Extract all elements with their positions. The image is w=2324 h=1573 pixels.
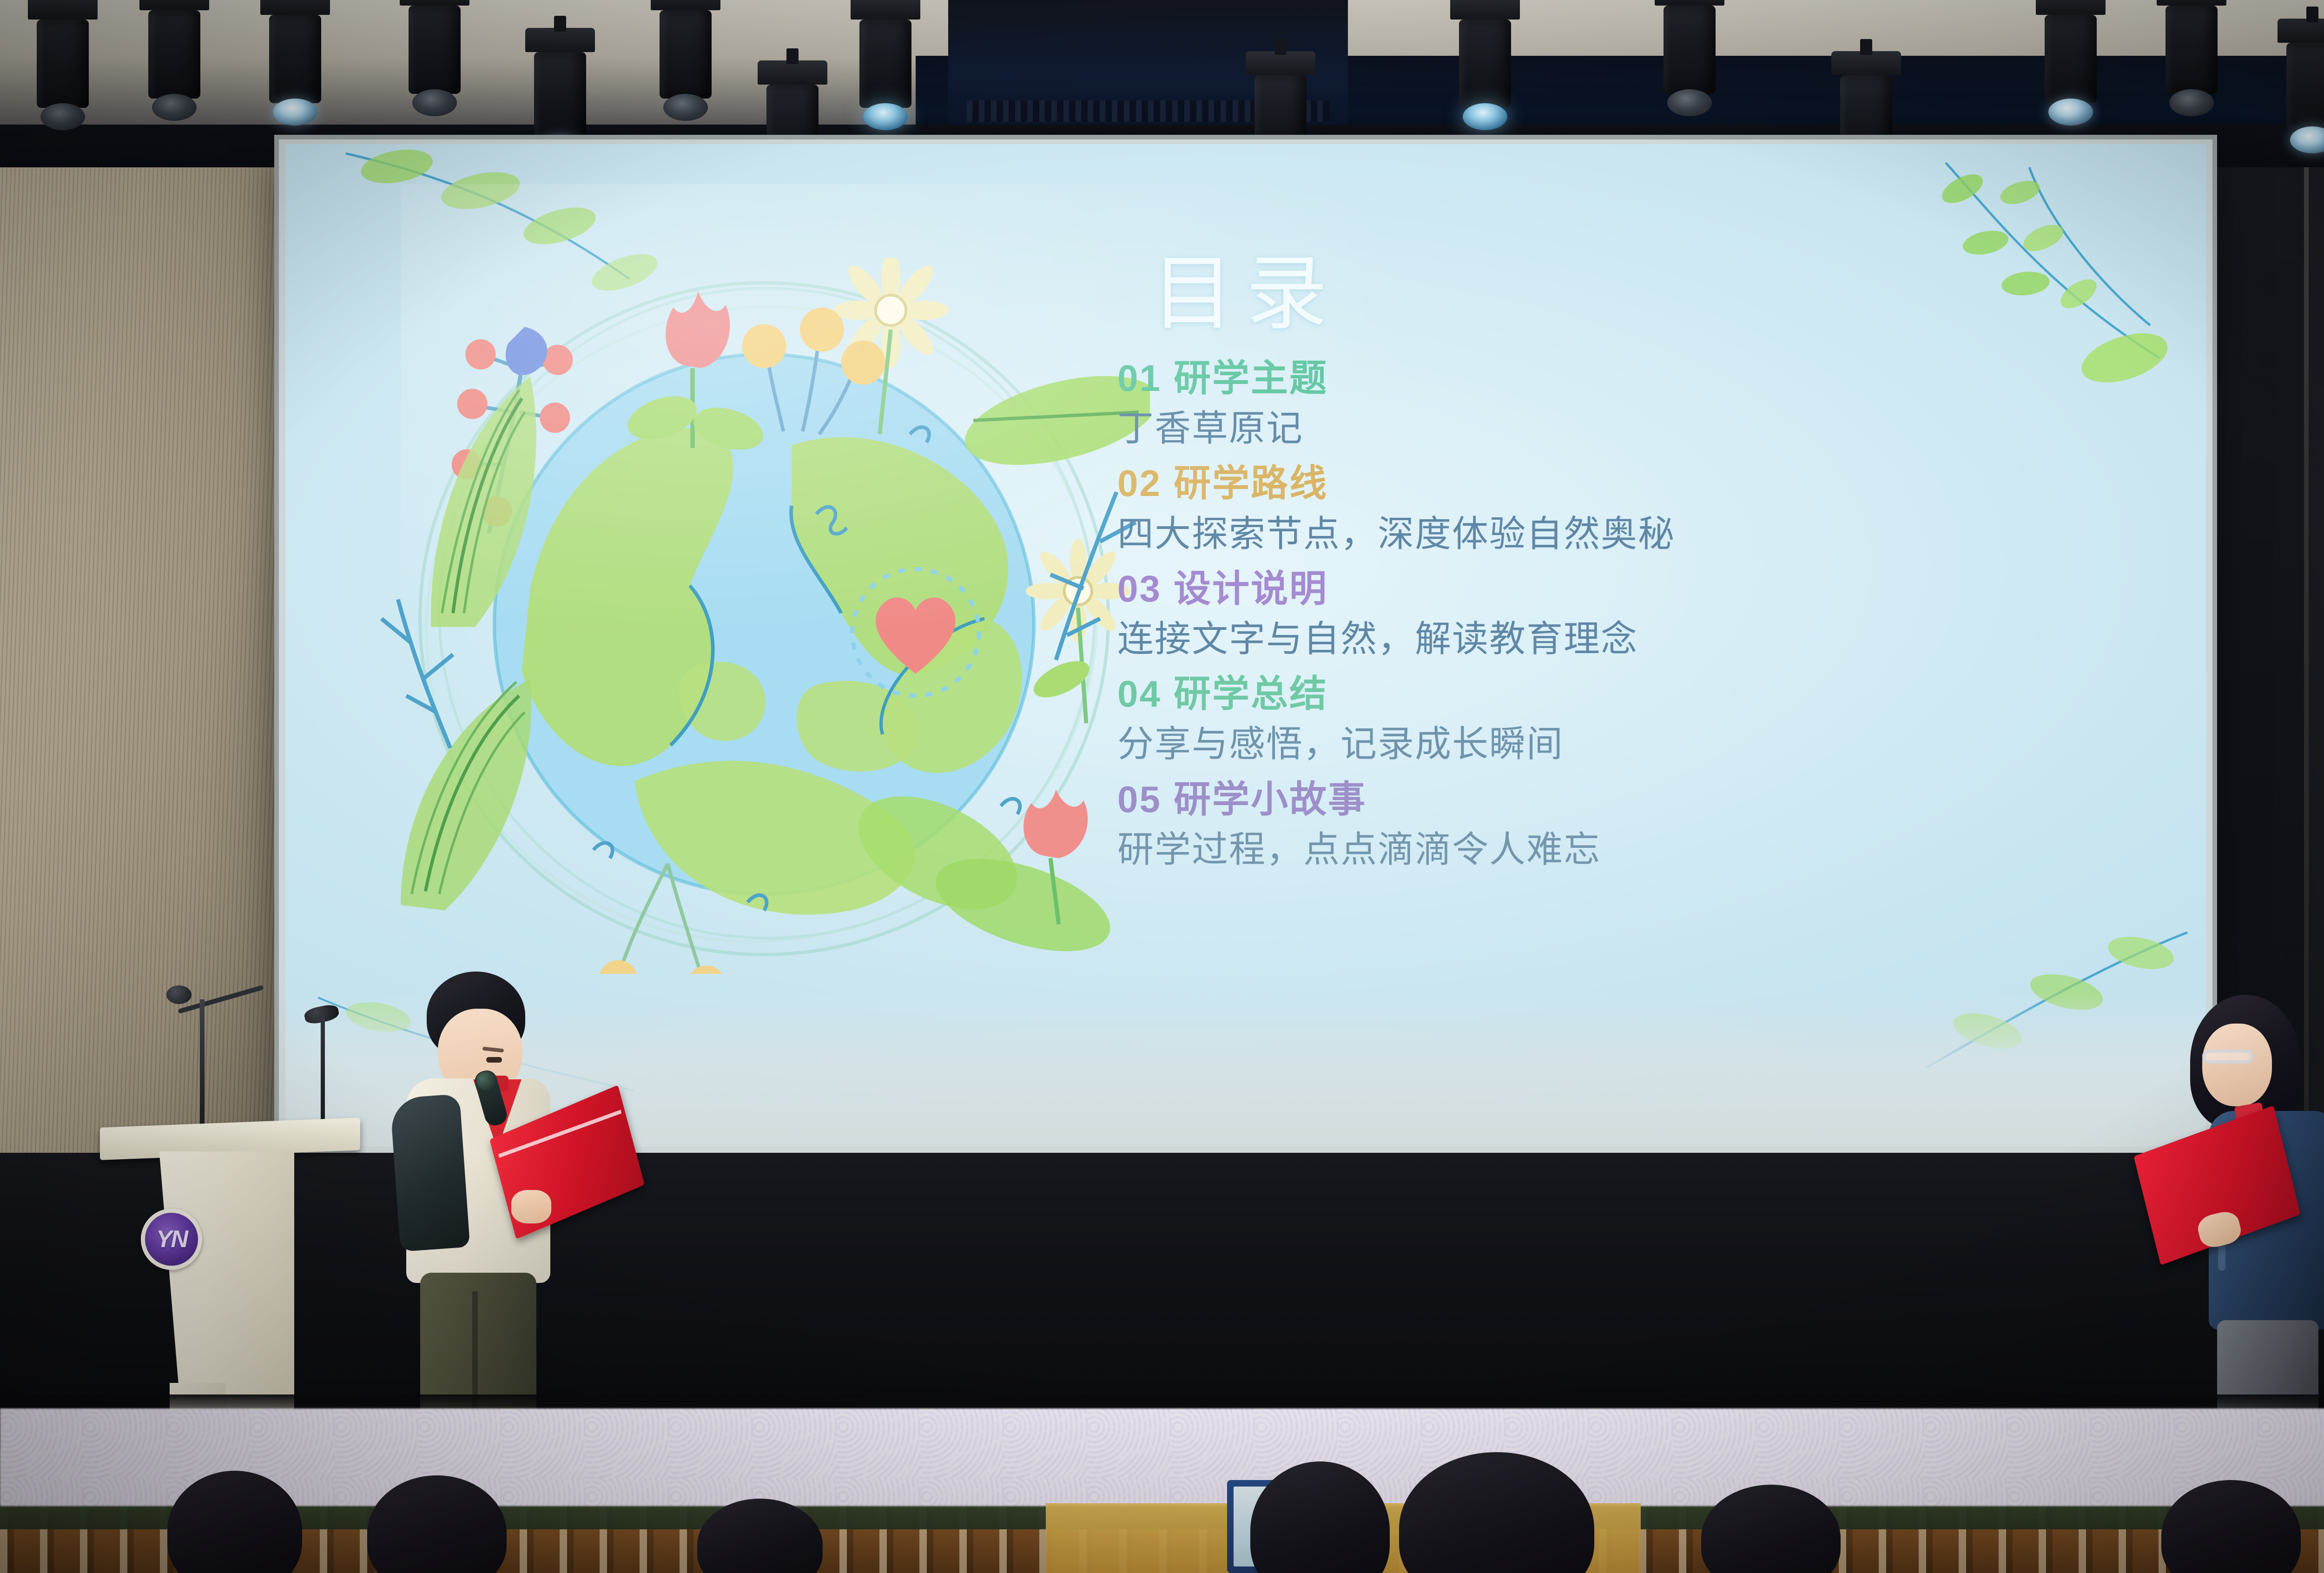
- stage-light: [1655, 0, 1724, 116]
- toc-heading-text: 研学路线: [1174, 463, 1328, 504]
- audience-head: [2161, 1480, 2301, 1573]
- stage-light: [2278, 19, 2324, 153]
- toc-heading: 05研学小故事: [1117, 774, 2093, 824]
- toc-subtitle: 丁香草原记: [1117, 403, 2093, 454]
- slide-title: 目录: [285, 227, 2206, 345]
- toc-number: 04: [1117, 673, 1162, 714]
- toc-heading-text: 设计说明: [1174, 568, 1328, 609]
- stage-light: [851, 0, 920, 130]
- toc-subtitle: 分享与感悟，记录成长瞬间: [1117, 719, 2093, 769]
- school-emblem-text: YN: [156, 1225, 187, 1253]
- stage-light: [2157, 0, 2226, 116]
- toc-subtitle: 研学过程，点点滴滴令人难忘: [1117, 824, 2093, 875]
- toc-heading-text: 研学小故事: [1174, 779, 1367, 820]
- audience-head: [367, 1475, 507, 1573]
- presenter-left: [372, 972, 590, 1441]
- stage-light: [1450, 0, 1520, 130]
- toc-item[interactable]: 05研学小故事 研学过程，点点滴滴令人难忘: [1117, 774, 2093, 875]
- toc-number: 02: [1117, 463, 1162, 504]
- glasses-icon: [2202, 1050, 2253, 1064]
- school-emblem-icon: YN: [141, 1209, 202, 1270]
- toc-subtitle: 四大探索节点，深度体验自然奥秘: [1117, 509, 2093, 559]
- podium: YN: [100, 1123, 360, 1434]
- toc-heading-text: 研学总结: [1174, 673, 1328, 714]
- microphone-stand: [321, 1016, 325, 1137]
- foreground-audience: [0, 1464, 2324, 1573]
- toc-item[interactable]: 04研学总结 分享与感悟，记录成长瞬间: [1117, 669, 2093, 769]
- stage-light: [400, 0, 469, 116]
- sleeve: [390, 1094, 470, 1252]
- toc-heading: 04研学总结: [1117, 669, 2093, 719]
- toc-heading: 01研学主题: [1117, 353, 2093, 403]
- toc-number: 05: [1117, 779, 1162, 820]
- podium-body: [141, 1151, 294, 1412]
- face: [2202, 1024, 2272, 1106]
- audience-head: [1250, 1461, 1390, 1573]
- audience-head: [697, 1499, 823, 1573]
- toc-item[interactable]: 03设计说明 连接文字与自然，解读教育理念: [1117, 564, 2093, 664]
- stage-light: [260, 0, 330, 126]
- audience-head: [1701, 1485, 1841, 1573]
- table-of-contents: 01研学主题 丁香草原记 02研学路线 四大探索节点，深度体验自然奥秘 03设计…: [1117, 353, 2093, 879]
- toc-number: 01: [1117, 357, 1162, 399]
- stage-light: [2036, 0, 2106, 126]
- presenter-right: [2147, 995, 2324, 1427]
- audience-head: [167, 1471, 302, 1573]
- stage-light: [139, 0, 209, 121]
- hand: [511, 1190, 551, 1223]
- toc-number: 03: [1117, 568, 1162, 609]
- audience-head: [1399, 1452, 1594, 1573]
- toc-heading-text: 研学主题: [1174, 357, 1328, 399]
- toc-heading: 03设计说明: [1117, 564, 2093, 614]
- microphone-icon: [166, 985, 191, 1004]
- auditorium-stage-photo: 目录 01研学主题 丁香草原记 02研学路线 四大探索节点，深度体验自然奥秘: [0, 0, 2324, 1573]
- toc-item[interactable]: 01研学主题 丁香草原记: [1117, 353, 2093, 454]
- toc-item[interactable]: 02研学路线 四大探索节点，深度体验自然奥秘: [1117, 458, 2093, 559]
- toc-heading: 02研学路线: [1117, 458, 2093, 508]
- earth-illustration: [378, 258, 1150, 974]
- stage-light: [651, 0, 720, 121]
- toc-subtitle: 连接文字与自然，解读教育理念: [1117, 614, 2093, 664]
- microphone-stand: [200, 999, 205, 1134]
- stage-light: [28, 0, 98, 130]
